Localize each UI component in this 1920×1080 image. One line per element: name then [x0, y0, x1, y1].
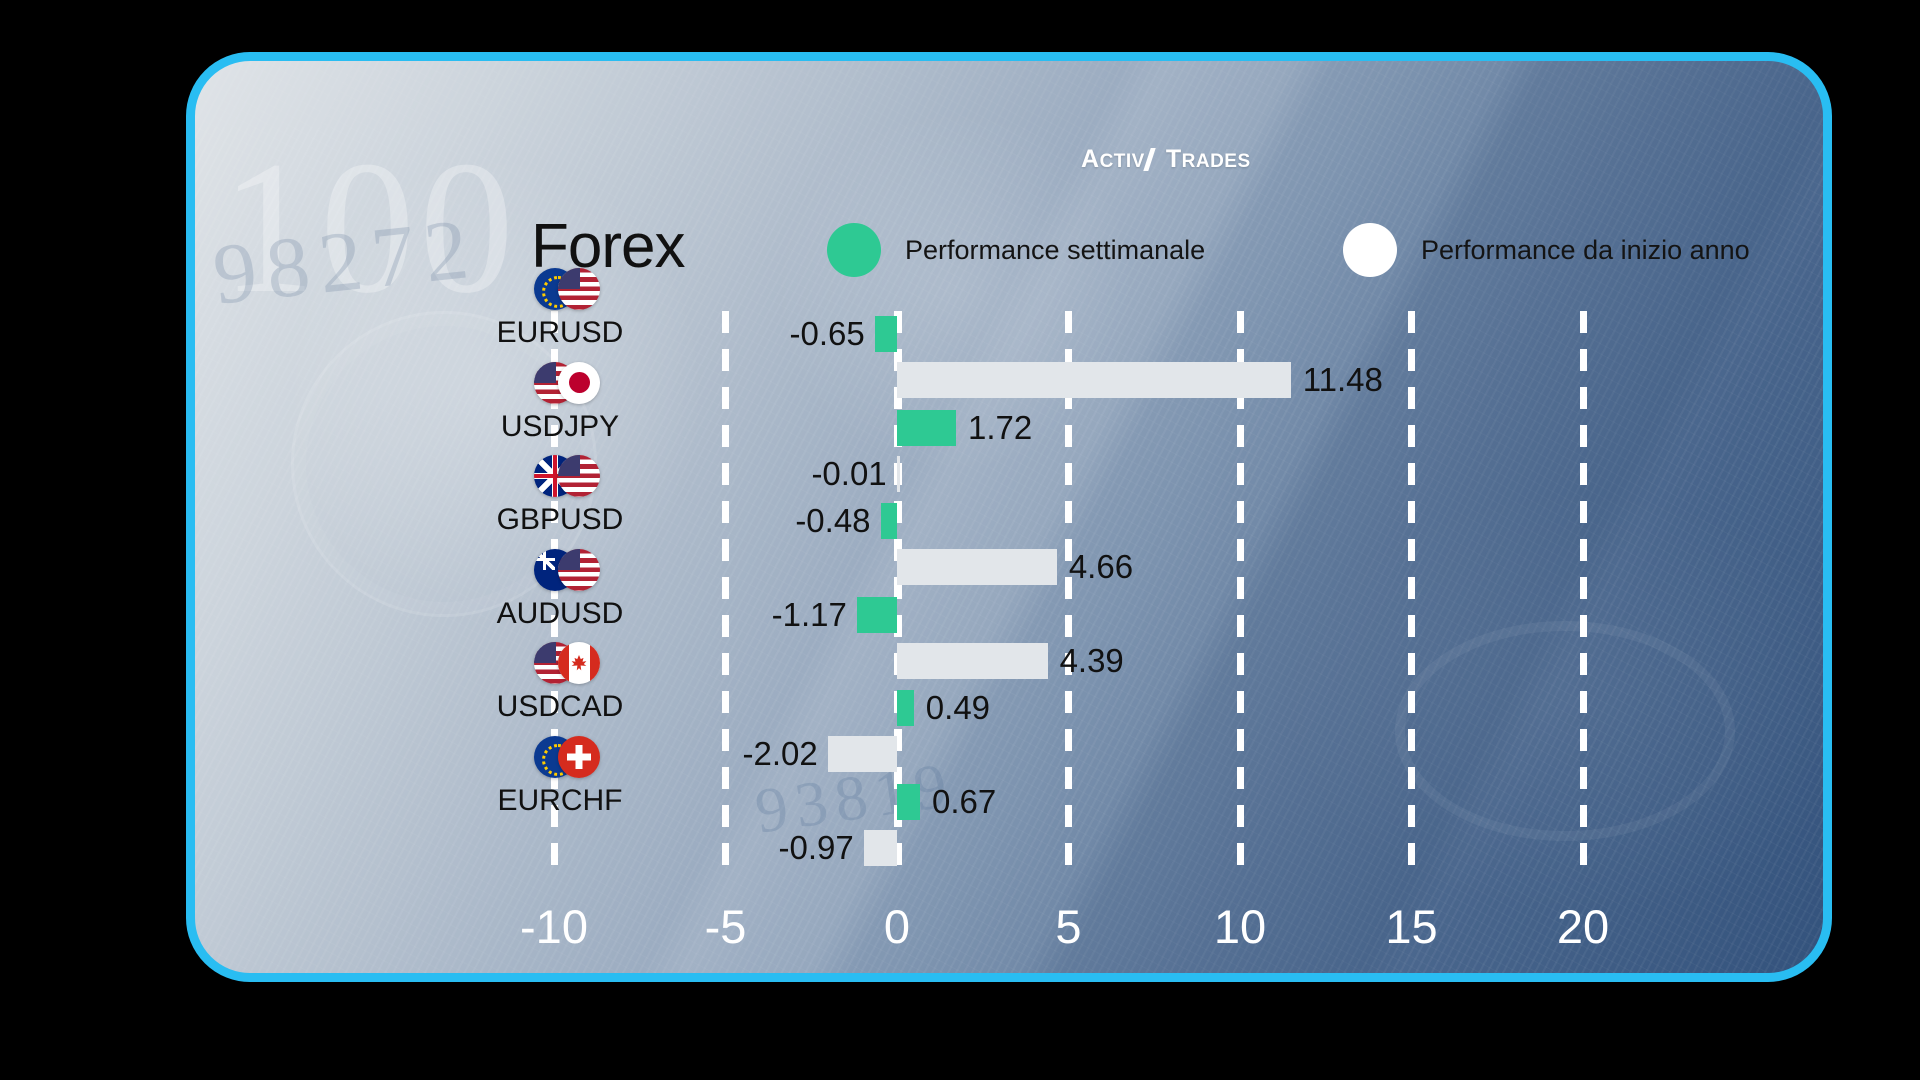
gridline-20 [1580, 311, 1587, 876]
screenshot-root: 100 98272 93819 ACTIVTRADES Forex Perfor… [0, 0, 1920, 1080]
flag-pair-icon [450, 642, 670, 688]
ytd-bar-eurchf [864, 830, 897, 866]
pair-label-usdcad: USDCAD [450, 642, 670, 724]
weekly-value-audusd: -1.17 [195, 597, 847, 633]
ytd-bar-usdcad [828, 736, 897, 772]
x-axis-tick-20: 20 [1557, 899, 1609, 954]
flag-jp-icon [558, 362, 600, 404]
weekly-bar-usdcad [897, 690, 914, 726]
flag-us-icon [558, 455, 600, 497]
weekly-bar-eurusd [875, 316, 897, 352]
ytd-value-eurusd: 11.48 [1303, 362, 1383, 398]
x-axis-title: % Performance percentuale [195, 973, 1832, 982]
gridline-15 [1408, 311, 1415, 876]
x-axis-tick-15: 15 [1385, 899, 1437, 954]
ytd-bar-usdjpy [897, 456, 900, 492]
weekly-bar-gbpusd [881, 503, 897, 539]
weekly-value-gbpusd: -0.48 [195, 503, 871, 539]
flag-pair-icon [450, 455, 670, 501]
weekly-bar-usdjpy [897, 410, 956, 446]
gridline--5 [722, 311, 729, 876]
x-axis-tick-10: 10 [1214, 899, 1266, 954]
weekly-bar-audusd [857, 597, 897, 633]
pair-label-eurchf: EURCHF [450, 736, 670, 818]
ytd-value-audusd: 4.39 [1060, 643, 1124, 679]
ytd-value-gbpusd: 4.66 [1069, 549, 1133, 585]
weekly-value-eurusd: -0.65 [195, 316, 865, 352]
x-axis-tick--5: -5 [705, 899, 747, 954]
flag-us-icon [558, 268, 600, 310]
x-axis-tick-5: 5 [1055, 899, 1081, 954]
bar-chart-plot: -10-505101520EURUSD-0.6511.48USDJPY1.72-… [195, 61, 1832, 982]
pair-label-usdjpy: USDJPY [450, 362, 670, 444]
x-axis-tick-0: 0 [884, 899, 910, 954]
flag-pair-icon [450, 362, 670, 408]
pair-name-text: USDJPY [450, 410, 670, 444]
x-axis-tick--10: -10 [520, 899, 588, 954]
ytd-bar-eurusd [897, 362, 1291, 398]
flag-ca-icon [558, 642, 600, 684]
weekly-value-usdcad: 0.49 [926, 690, 990, 726]
weekly-value-usdjpy: 1.72 [968, 410, 1032, 446]
weekly-bar-eurchf [897, 784, 920, 820]
ytd-bar-audusd [897, 643, 1048, 679]
flag-ch-icon [558, 736, 600, 778]
pair-name-text: USDCAD [450, 690, 670, 724]
flag-pair-icon [450, 268, 670, 314]
ytd-value-eurchf: -0.97 [195, 830, 854, 866]
flag-pair-icon [450, 736, 670, 782]
ytd-bar-gbpusd [897, 549, 1057, 585]
flag-pair-icon [450, 549, 670, 595]
flag-us-icon [558, 549, 600, 591]
weekly-value-eurchf: 0.67 [932, 784, 996, 820]
forex-performance-card: 100 98272 93819 ACTIVTRADES Forex Perfor… [186, 52, 1832, 982]
pair-name-text: EURCHF [450, 784, 670, 818]
